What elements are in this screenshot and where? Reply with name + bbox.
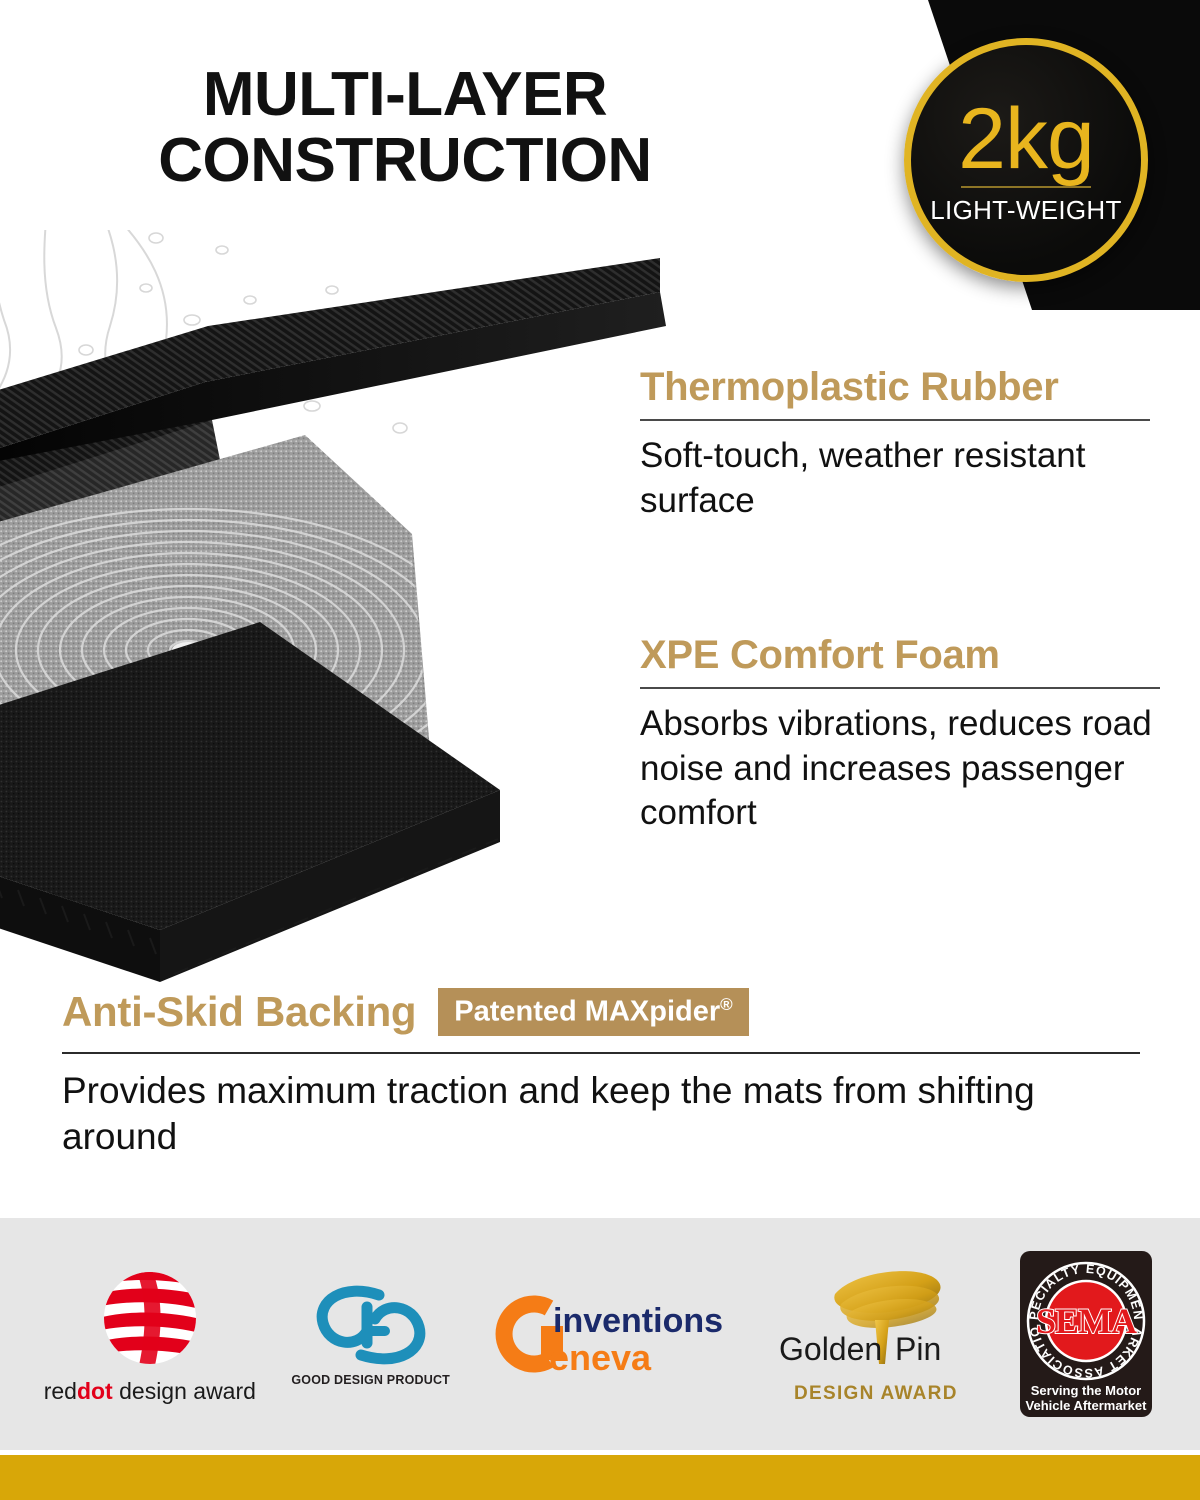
badge-label: LIGHT-WEIGHT	[930, 195, 1121, 226]
title-line-2: CONSTRUCTION	[0, 128, 810, 194]
award-sema: SPECIALTY EQUIPMENT MARKET ASSOCIATION S…	[1016, 1249, 1156, 1419]
light-weight-badge: 2kg LIGHT-WEIGHT	[904, 38, 1148, 282]
award-good-design-product: GOOD DESIGN PRODUCT	[291, 1281, 450, 1387]
footer-gold-bar	[0, 1455, 1200, 1500]
sema-caption-line-1: Serving the Motor	[1031, 1383, 1142, 1398]
feature-divider	[640, 687, 1160, 689]
pin-word: Pin	[895, 1331, 941, 1367]
badge-divider	[961, 186, 1091, 188]
feature-heading: Thermoplastic Rubber	[640, 366, 1150, 408]
feature-heading: Anti-Skid Backing	[62, 991, 416, 1033]
good-design-gd-icon	[309, 1281, 433, 1369]
badge-weight-value: 2kg	[958, 100, 1094, 179]
award-inventions-geneva: inventions eneva	[485, 1286, 735, 1382]
patented-maxpider-label: Patented MAXpider	[454, 996, 720, 1028]
award-golden-pin-design-award: Golden Pin DESIGN AWARD	[771, 1264, 981, 1405]
infographic-canvas: MULTI-LAYER CONSTRUCTION 2kg LIGHT-WEIGH…	[0, 0, 1200, 1500]
feature-divider	[62, 1052, 1140, 1054]
page-title: MULTI-LAYER CONSTRUCTION	[0, 62, 810, 195]
reddot-sphere-icon	[96, 1264, 204, 1372]
sema-caption-line-2: Vehicle Aftermarket	[1026, 1398, 1148, 1413]
inventions-word: inventions	[553, 1302, 723, 1340]
award-caption: reddot design award	[44, 1378, 256, 1405]
golden-word: Golden	[779, 1331, 882, 1367]
reddot-caption-pre: red	[44, 1378, 77, 1404]
feature-xpe-comfort-foam: XPE Comfort Foam Absorbs vibrations, red…	[640, 634, 1160, 836]
anti-skid-heading-row: Anti-Skid Backing Patented MAXpider®	[62, 988, 1140, 1036]
reddot-caption-post: design award	[113, 1378, 256, 1404]
award-reddot-design-award: reddot design award	[44, 1264, 256, 1405]
patented-maxpider-badge: Patented MAXpider®	[438, 988, 748, 1036]
sema-wordmark: SEMA	[1036, 1301, 1137, 1341]
geneva-word: eneva	[549, 1337, 652, 1378]
feature-divider	[640, 419, 1150, 421]
registered-mark-icon: ®	[720, 995, 733, 1014]
feature-anti-skid-backing: Anti-Skid Backing Patented MAXpider® Pro…	[62, 988, 1140, 1160]
feature-thermoplastic-rubber: Thermoplastic Rubber Soft-touch, weather…	[640, 366, 1150, 523]
award-caption: DESIGN AWARD	[794, 1383, 958, 1405]
feature-heading: XPE Comfort Foam	[640, 634, 1160, 676]
product-layer-illustration	[0, 230, 680, 990]
inventions-geneva-icon: inventions eneva	[485, 1286, 735, 1382]
feature-body: Absorbs vibrations, reduces road noise a…	[640, 702, 1160, 835]
title-line-1: MULTI-LAYER	[0, 62, 810, 128]
awards-strip: reddot design award GOOD DESIGN PRODUCT	[0, 1218, 1200, 1450]
golden-pin-icon: Golden Pin	[771, 1264, 981, 1382]
reddot-caption-mid: dot	[77, 1378, 113, 1404]
feature-body: Provides maximum traction and keep the m…	[62, 1068, 1140, 1161]
sema-icon: SPECIALTY EQUIPMENT MARKET ASSOCIATION S…	[1016, 1249, 1156, 1419]
award-caption: GOOD DESIGN PRODUCT	[291, 1373, 450, 1387]
feature-body: Soft-touch, weather resistant surface	[640, 434, 1150, 523]
